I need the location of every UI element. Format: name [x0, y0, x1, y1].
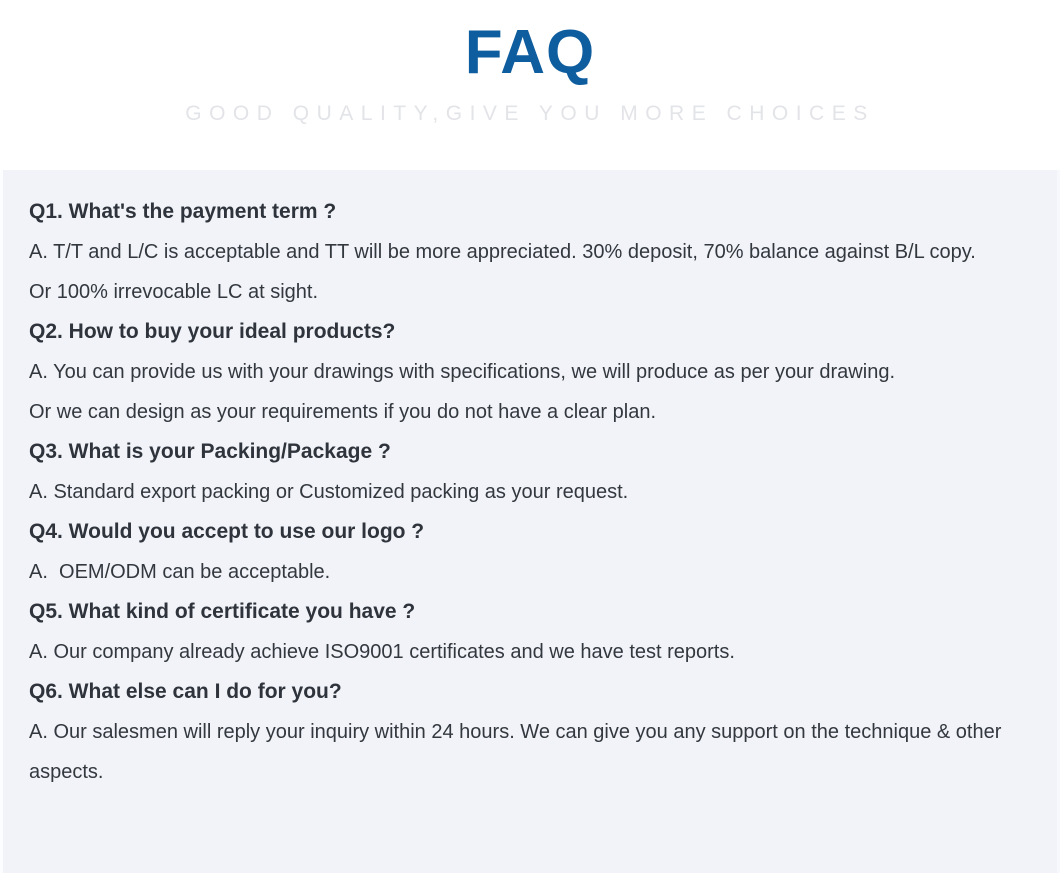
faq-answer: A. Our company already achieve ISO9001 c…: [29, 632, 1033, 672]
faq-list: Q1. What's the payment term ? A. T/T and…: [29, 192, 1033, 792]
faq-answer: A. Our salesmen will reply your inquiry …: [29, 712, 1033, 792]
faq-answer: Or 100% irrevocable LC at sight.: [29, 272, 1033, 312]
faq-question: Q3. What is your Packing/Package ?: [29, 432, 1033, 472]
faq-question: Q4. Would you accept to use our logo ?: [29, 512, 1033, 552]
faq-page: FAQ GOOD QUALITY,GIVE YOU MORE CHOICES Q…: [0, 0, 1060, 873]
faq-entry: Q4. Would you accept to use our logo ? A…: [29, 512, 1033, 592]
faq-answer: A. You can provide us with your drawings…: [29, 352, 1033, 392]
faq-entry: Q3. What is your Packing/Package ? A. St…: [29, 432, 1033, 512]
faq-body-panel: Q1. What's the payment term ? A. T/T and…: [0, 170, 1060, 873]
faq-header: FAQ GOOD QUALITY,GIVE YOU MORE CHOICES: [0, 0, 1060, 170]
faq-answer: A. T/T and L/C is acceptable and TT will…: [29, 232, 1033, 272]
faq-question: Q2. How to buy your ideal products?: [29, 312, 1033, 352]
faq-entry: Q1. What's the payment term ? A. T/T and…: [29, 192, 1033, 312]
faq-entry: Q2. How to buy your ideal products? A. Y…: [29, 312, 1033, 432]
faq-answer: A. OEM/ODM can be acceptable.: [29, 552, 1033, 592]
faq-question: Q1. What's the payment term ?: [29, 192, 1033, 232]
page-subtitle: GOOD QUALITY,GIVE YOU MORE CHOICES: [0, 84, 1060, 126]
page-title: FAQ: [0, 22, 1060, 84]
faq-answer: A. Standard export packing or Customized…: [29, 472, 1033, 512]
faq-answer: Or we can design as your requirements if…: [29, 392, 1033, 432]
faq-entry: Q5. What kind of certificate you have ? …: [29, 592, 1033, 672]
faq-entry: Q6. What else can I do for you? A. Our s…: [29, 672, 1033, 792]
faq-question: Q5. What kind of certificate you have ?: [29, 592, 1033, 632]
faq-question: Q6. What else can I do for you?: [29, 672, 1033, 712]
